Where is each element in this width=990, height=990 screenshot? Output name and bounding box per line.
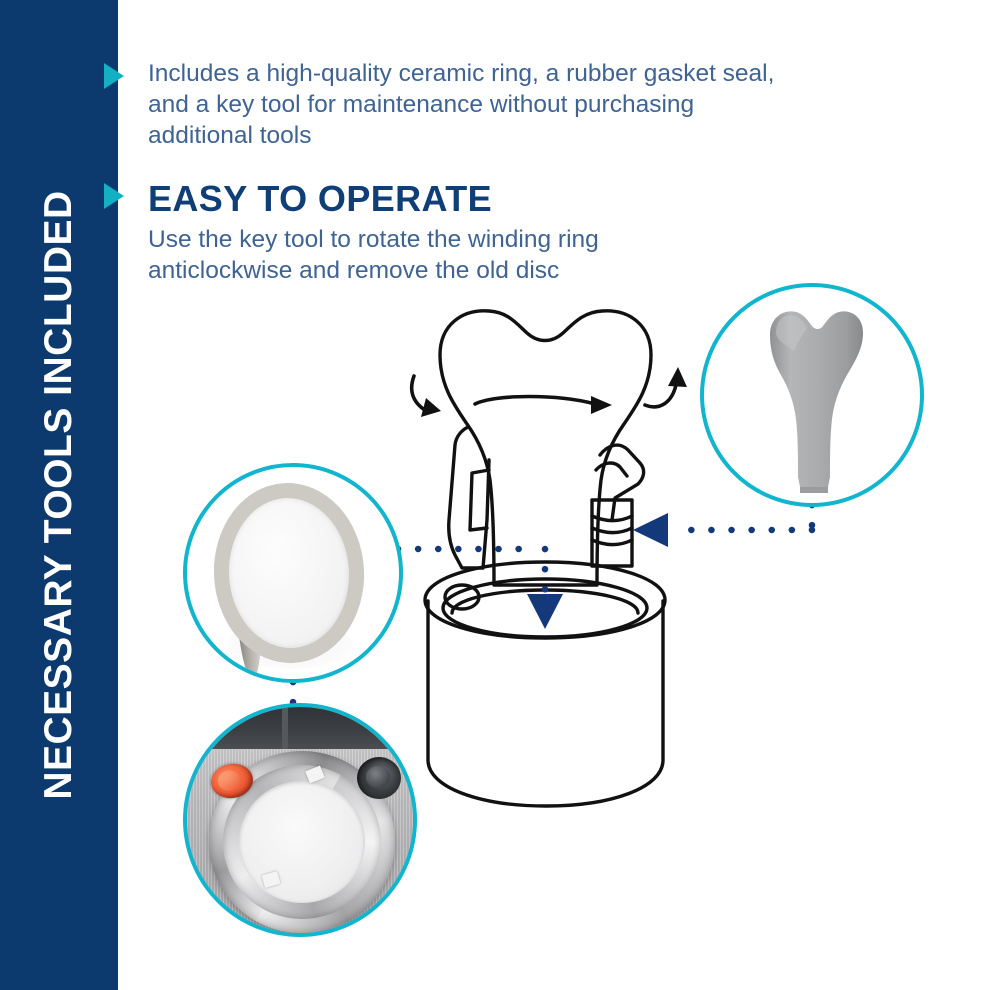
sidebar-vertical-title: NECESSARY TOOLS INCLUDED bbox=[37, 190, 81, 799]
rotate-arrow-left-curve bbox=[412, 376, 428, 412]
key-tool-outline bbox=[440, 311, 651, 585]
rotate-arrow-right-head bbox=[668, 367, 687, 387]
infographic-page: NECESSARY TOOLS INCLUDED Includes a high… bbox=[0, 0, 990, 990]
winding-ring-lip bbox=[452, 590, 638, 613]
rotate-arrow-center-head bbox=[591, 396, 612, 414]
section-heading-easy-to-operate: EASY TO OPERATE bbox=[148, 178, 492, 220]
valve-seat-callout bbox=[183, 703, 417, 937]
faucet-line-drawing bbox=[425, 311, 665, 806]
rotate-arrow-center-line bbox=[475, 397, 595, 405]
ceramic-ring-callout bbox=[183, 463, 403, 683]
collar-ridge-1 bbox=[592, 516, 632, 521]
seat-dark-band bbox=[183, 703, 417, 749]
collar-ridge-3 bbox=[592, 540, 632, 545]
right-nozzle-inner bbox=[596, 463, 627, 476]
collar-ridge-2 bbox=[592, 528, 632, 533]
winding-ring-outer bbox=[425, 562, 665, 638]
right-nozzle-outline bbox=[600, 445, 644, 520]
bullet-triangle-icon-1 bbox=[104, 63, 124, 89]
rotate-arrow-right-curve bbox=[645, 385, 676, 407]
arrowhead-housing-down bbox=[527, 594, 563, 629]
left-lug-outline bbox=[449, 427, 489, 568]
housing-bottom-edge bbox=[428, 716, 663, 760]
key-tool-callout bbox=[700, 283, 924, 507]
seat-ring-inner bbox=[239, 781, 365, 903]
key-tool-tip bbox=[800, 487, 828, 493]
bullet-body-2: Use the key tool to rotate the winding r… bbox=[148, 224, 908, 286]
bullet-triangle-icon-2 bbox=[104, 183, 124, 209]
black-cap bbox=[357, 757, 401, 799]
bullet-body-1: Includes a high-quality ceramic ring, a … bbox=[148, 58, 908, 151]
arrowhead-keytool-left bbox=[633, 513, 668, 547]
right-collar bbox=[592, 500, 632, 566]
key-tool-svg bbox=[760, 307, 868, 495]
winding-ring-inner bbox=[443, 579, 647, 637]
rotation-arrows bbox=[412, 367, 687, 417]
housing-body bbox=[428, 601, 663, 806]
sidebar-banner: NECESSARY TOOLS INCLUDED bbox=[0, 0, 118, 990]
ring-port-oval bbox=[445, 585, 479, 609]
rotate-arrow-left-head bbox=[421, 398, 441, 417]
left-lug-inner bbox=[470, 470, 489, 530]
